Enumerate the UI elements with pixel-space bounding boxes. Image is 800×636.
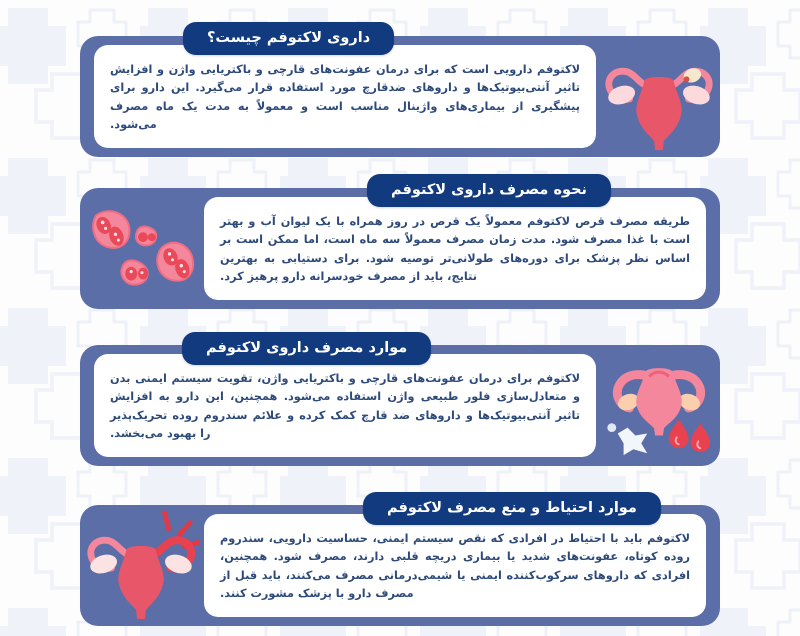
section-title-indications: موارد مصرف داروی لاکتوفم bbox=[182, 332, 431, 365]
section-body-text: لاکتوفم دارویی است که برای درمان عفونت‌ه… bbox=[110, 61, 580, 134]
section-body-box: لاکتوفم باید با احتیاط در افرادی که نقص … bbox=[204, 514, 706, 617]
infographic-page: لاکتوفم دارویی است که برای درمان عفونت‌ه… bbox=[0, 0, 800, 636]
section-card-what-is: لاکتوفم دارویی است که برای درمان عفونت‌ه… bbox=[80, 36, 720, 157]
section-body-text: لاکتوفم برای درمان عفونت‌های قارچی و باک… bbox=[110, 370, 580, 443]
section-title-what-is: داروی لاکتوفم چیست؟ bbox=[183, 22, 394, 55]
section-body-text: طریقه مصرف قرص لاکتوفم معمولاً یک قرص در… bbox=[220, 213, 690, 286]
section-body-box: لاکتوفم برای درمان عفونت‌های قارچی و باک… bbox=[94, 354, 596, 457]
section-body-box: لاکتوفم دارویی است که برای درمان عفونت‌ه… bbox=[94, 45, 596, 148]
section-title-how-to-use: نحوه مصرف داروی لاکتوفم bbox=[367, 174, 611, 207]
uterus-discharge-blood-icon bbox=[600, 350, 718, 462]
section-body-text: لاکتوفم باید با احتیاط در افرادی که نقص … bbox=[220, 530, 690, 603]
uterus-icon bbox=[600, 41, 718, 153]
section-body-box: طریقه مصرف قرص لاکتوفم معمولاً یک قرص در… bbox=[204, 197, 706, 300]
section-title-cautions: موارد احتیاط و منع مصرف لاکتوفم bbox=[363, 492, 661, 525]
bacteria-cells-icon bbox=[82, 193, 200, 305]
uterus-pain-icon bbox=[82, 510, 200, 622]
